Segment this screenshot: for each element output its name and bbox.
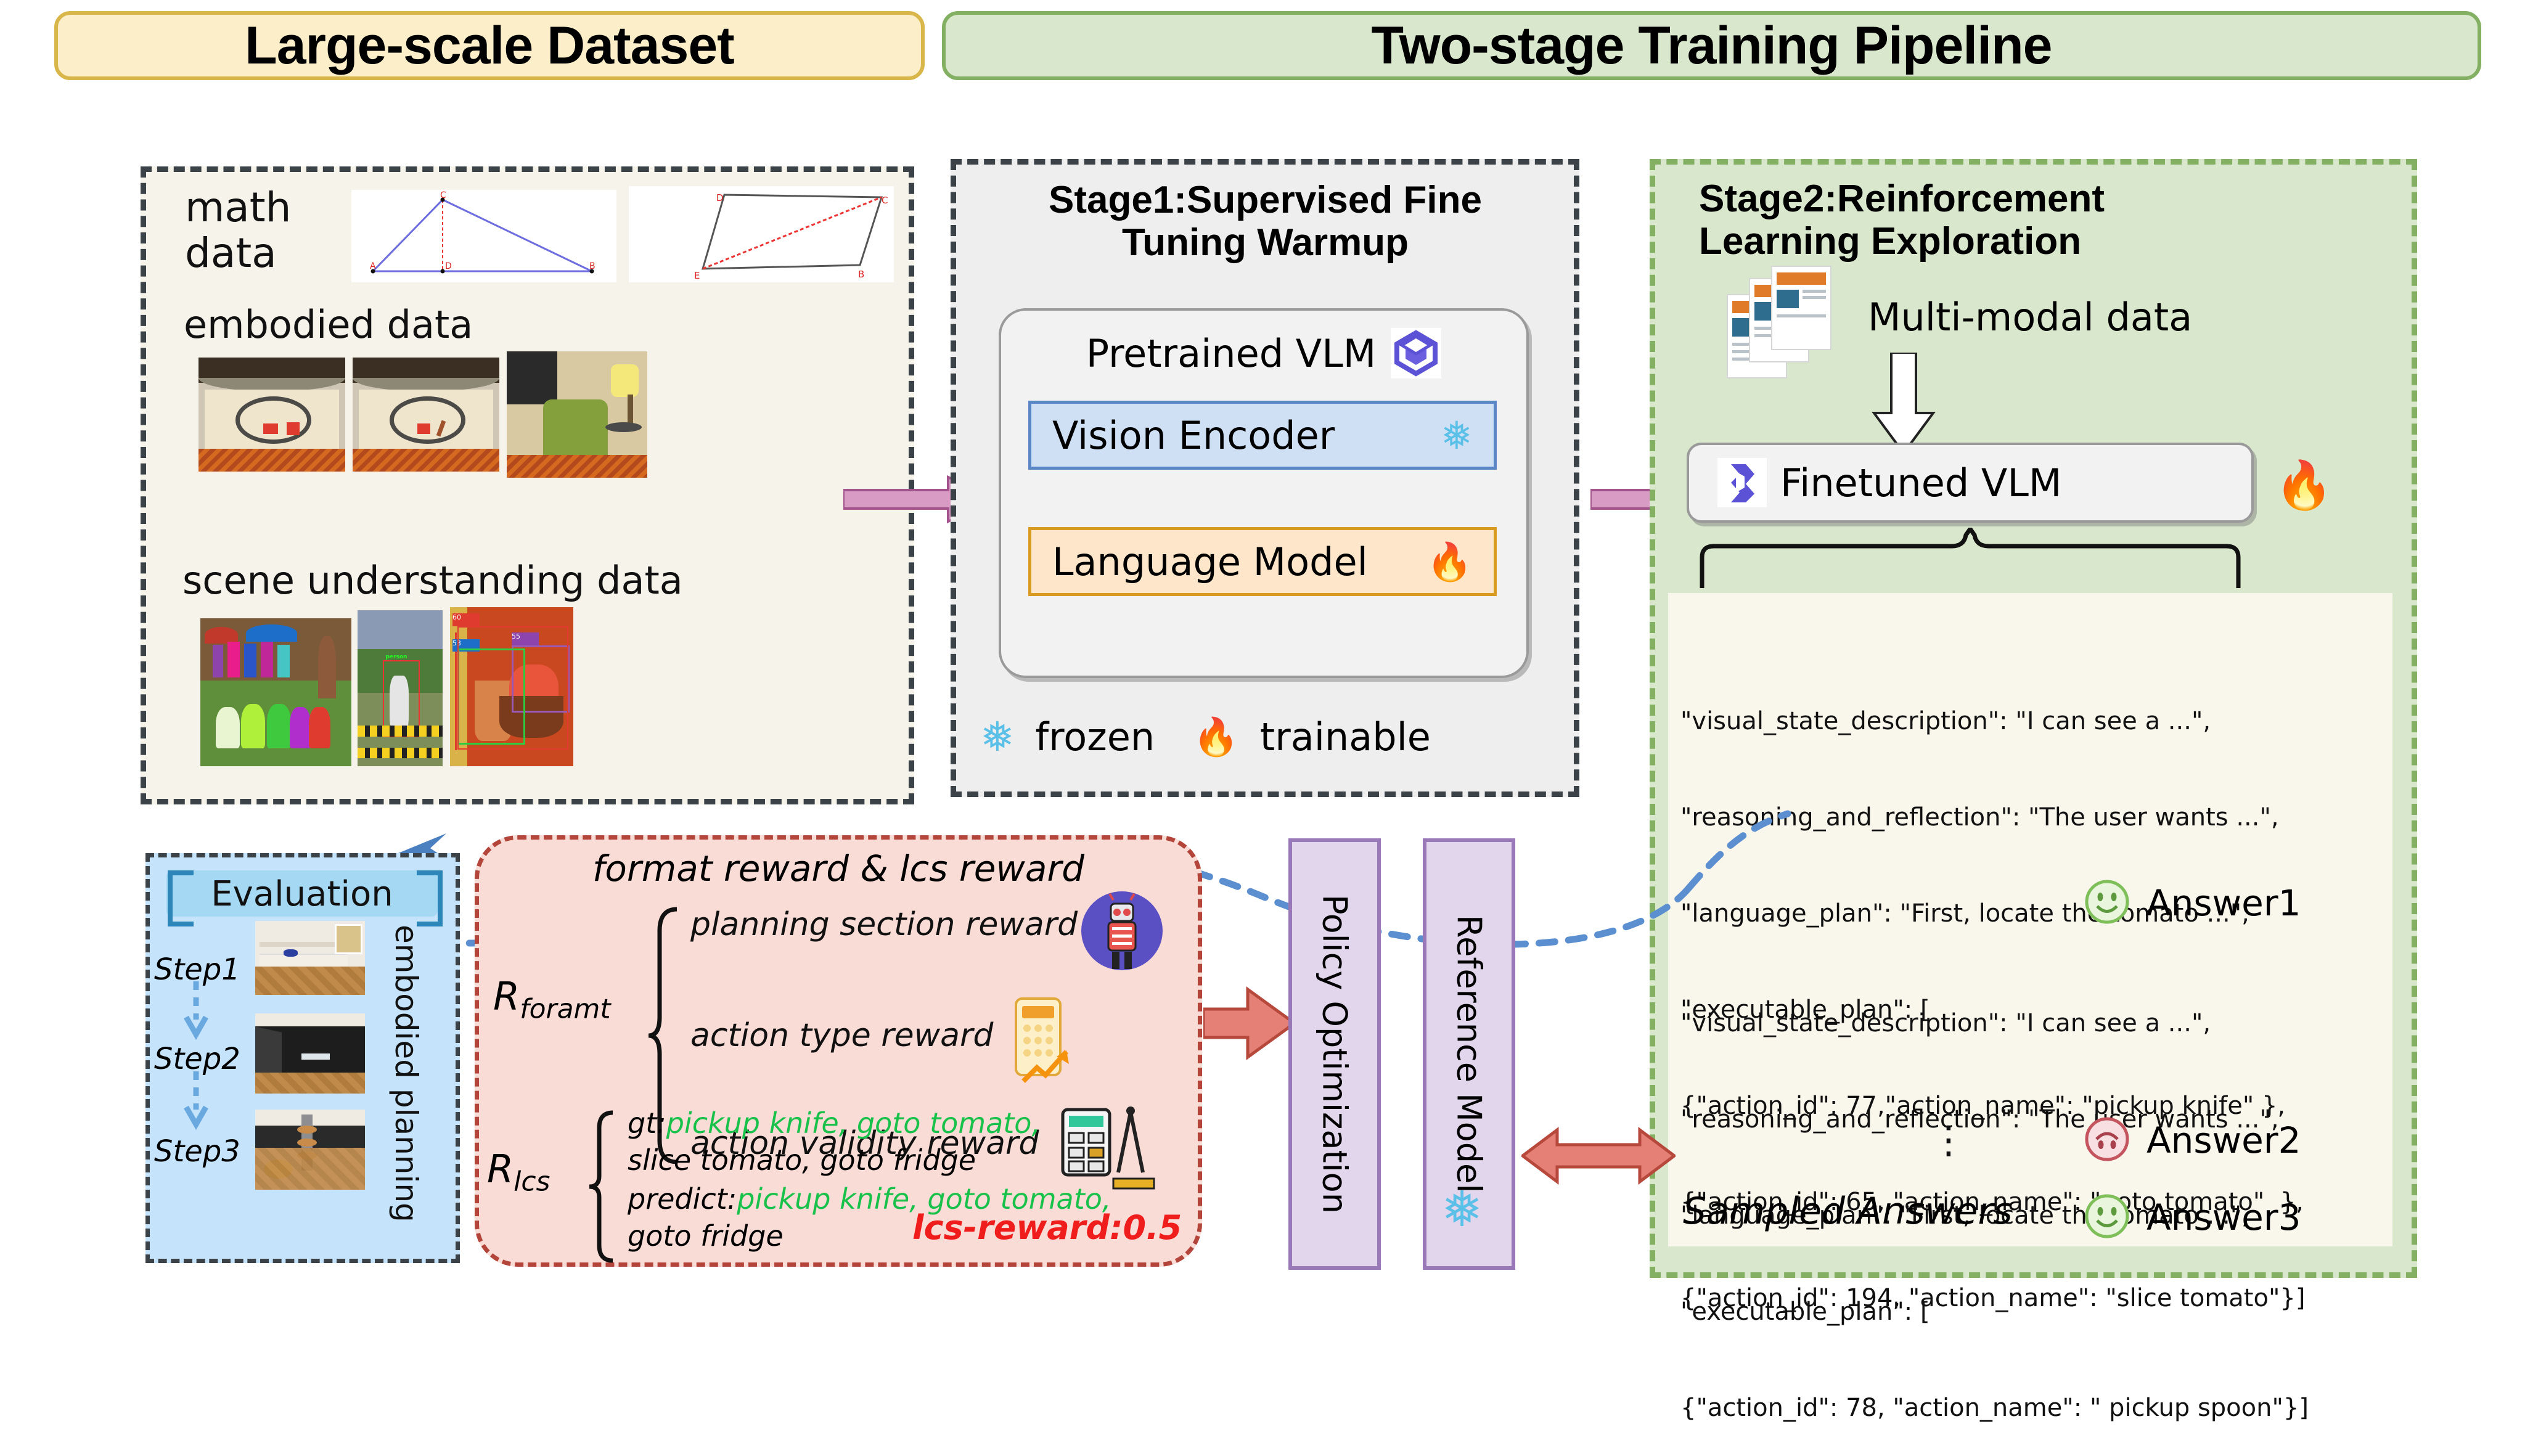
embodied-image-2 — [353, 358, 499, 472]
answers-ellipsis: ⋮ — [1930, 1128, 1968, 1151]
scene-image-detection-horse: person — [358, 610, 443, 766]
math-figure-parallelogram: D C E B — [629, 186, 894, 282]
answer-1-label: Answer1 — [2146, 882, 2301, 924]
language-model-label: Language Model — [1052, 539, 1368, 584]
finetuned-vlm-label: Finetuned VLM — [1780, 460, 2061, 505]
language-model-box: Language Model 🔥 — [1028, 527, 1497, 596]
scene-image-detection-food: 60 53 55 — [450, 607, 573, 766]
snowflake-icon: ❅ — [1441, 413, 1473, 458]
eval-step-3-image — [255, 1110, 365, 1190]
svg-text:C: C — [440, 190, 446, 200]
left-header-title: Large-scale Dataset — [245, 15, 734, 76]
math-figure-triangle: A C D B — [351, 190, 616, 282]
answer-2-json-line: "executable_plan": [ — [1680, 1296, 2396, 1328]
answer-2-json-line: {"action_id": 78, "action_name": " picku… — [1680, 1392, 2396, 1424]
lcs-gt-line: gt:pickup knife, goto tomato, — [628, 1106, 1041, 1140]
answer-1-json-line: "visual_state_description": "I can see a… — [1680, 705, 2396, 737]
embodied-data-label: embodied data — [184, 302, 677, 347]
svg-text:A: A — [370, 261, 376, 271]
scene-understanding-label: scene understanding data — [182, 558, 799, 603]
lcs-predict-line-2: goto fridge — [628, 1219, 784, 1253]
eval-step-arrow-1 — [184, 981, 208, 1043]
answer-2-row: Answer2 — [2084, 1113, 2392, 1168]
svg-text:C: C — [882, 195, 888, 206]
sad-face-icon — [2084, 1116, 2130, 1165]
svg-text:B: B — [589, 261, 595, 271]
pretrained-vlm-row: Pretrained VLM — [1048, 319, 1479, 387]
answer-3-row: Answer3 — [2084, 1190, 2392, 1245]
lcs-gt-prefix: gt: — [628, 1106, 666, 1140]
evaluation-title: Evaluation — [166, 874, 438, 914]
finetuned-vlm-fire-icon: 🔥 — [2275, 457, 2333, 513]
lcs-reward-R: R — [487, 1147, 514, 1192]
policy-optimization-box[interactable]: Policy Optimization — [1288, 838, 1381, 1270]
format-reward-R: R — [493, 974, 520, 1019]
reward-panel-title: format reward & lcs reward — [487, 848, 1190, 890]
finetuned-vlm-box: Finetuned VLM — [1687, 443, 2254, 523]
svg-text:D: D — [716, 192, 724, 203]
policy-optimization-label: Policy Optimization — [1316, 894, 1354, 1214]
pretrained-vlm-label: Pretrained VLM — [1086, 331, 1377, 376]
answer-2-label: Answer2 — [2146, 1119, 2301, 1161]
lcs-gt-line-2: slice tomato, goto fridge — [628, 1143, 976, 1177]
stage1-title: Stage1:Supervised Fine Tuning Warmup — [968, 179, 1563, 264]
svg-text:B: B — [858, 269, 864, 280]
embodied-image-1 — [198, 358, 345, 472]
svg-text:D: D — [445, 261, 452, 271]
format-reward-symbol: Rforamt — [493, 974, 611, 1025]
stage1-legend: ❅ frozen 🔥 trainable — [980, 706, 1566, 767]
format-reward-subscript: foramt — [520, 993, 611, 1025]
answer-1-json-line: "reasoning_and_reflection": "The user wa… — [1680, 801, 2396, 833]
vision-encoder-box: Vision Encoder ❅ — [1028, 401, 1497, 470]
vlm-logo-icon — [1391, 328, 1441, 378]
finetuned-vlm-logo-icon — [1717, 458, 1767, 507]
lcs-reward-value: lcs-reward:0.5 — [912, 1208, 1182, 1247]
right-header-banner: Two-stage Training Pipeline — [942, 11, 2481, 80]
eval-step-3-label: Step3 — [154, 1134, 240, 1169]
legend-fire-icon: 🔥 — [1193, 715, 1239, 759]
math-data-label: math data — [185, 185, 370, 276]
legend-snowflake-icon: ❅ — [980, 713, 1014, 761]
right-header-title: Two-stage Training Pipeline — [1372, 15, 2052, 76]
calculator-chart-icon — [1007, 995, 1081, 1087]
lcs-reward-subscript: lcs — [514, 1166, 550, 1197]
multimodal-data-label: Multi-modal data — [1868, 295, 2423, 340]
scene-image-segmentation — [200, 618, 351, 766]
reference-model-snowflake-icon: ❅ — [1441, 1180, 1483, 1238]
reference-to-answers-arrow — [1521, 1119, 1676, 1193]
eval-step-2-image — [255, 1013, 365, 1094]
legend-frozen-label: frozen — [1035, 714, 1155, 759]
lcs-reward-symbol: Rlcs — [487, 1147, 550, 1197]
answer-2-json-line: "visual_state_description": "I can see a… — [1680, 1007, 2396, 1039]
reference-model-label: Reference Model — [1450, 915, 1489, 1193]
multimodal-documents-icon — [1725, 264, 1848, 387]
vision-encoder-label: Vision Encoder — [1052, 413, 1335, 458]
evaluation-side-label: embodied planning — [388, 925, 424, 1245]
format-reward-item-2: action type reward — [690, 1017, 993, 1054]
eval-step-1-image — [255, 921, 365, 995]
sampled-answers-label: Sampled Answers — [1683, 1190, 2012, 1233]
lcs-reward-brace — [587, 1110, 618, 1264]
lcs-gt-green: pickup knife, goto tomato, — [666, 1106, 1041, 1140]
svg-text:E: E — [694, 270, 700, 281]
eval-step-arrow-2 — [184, 1071, 208, 1133]
robot-icon — [1079, 888, 1165, 974]
happy-face-icon — [2084, 878, 2130, 928]
down-arrow-to-vlm — [1867, 353, 1941, 454]
answer-1-row: Answer1 — [2084, 875, 2392, 931]
embodied-image-3 — [507, 351, 647, 478]
reward-to-policy-arrow — [1203, 977, 1296, 1070]
left-header-banner: Large-scale Dataset — [54, 11, 925, 80]
answer-3-label: Answer3 — [2146, 1196, 2301, 1238]
fire-icon: 🔥 — [1426, 540, 1473, 584]
finetuned-vlm-brace — [1693, 528, 2248, 589]
legend-trainable-label: trainable — [1260, 714, 1431, 759]
happy-face-icon — [2084, 1193, 2130, 1242]
format-reward-item-1: planning section reward — [690, 906, 1078, 943]
stage2-title: Stage2:Reinforcement Learning Exploratio… — [1668, 178, 2396, 263]
lcs-predict-prefix: predict: — [628, 1182, 737, 1216]
